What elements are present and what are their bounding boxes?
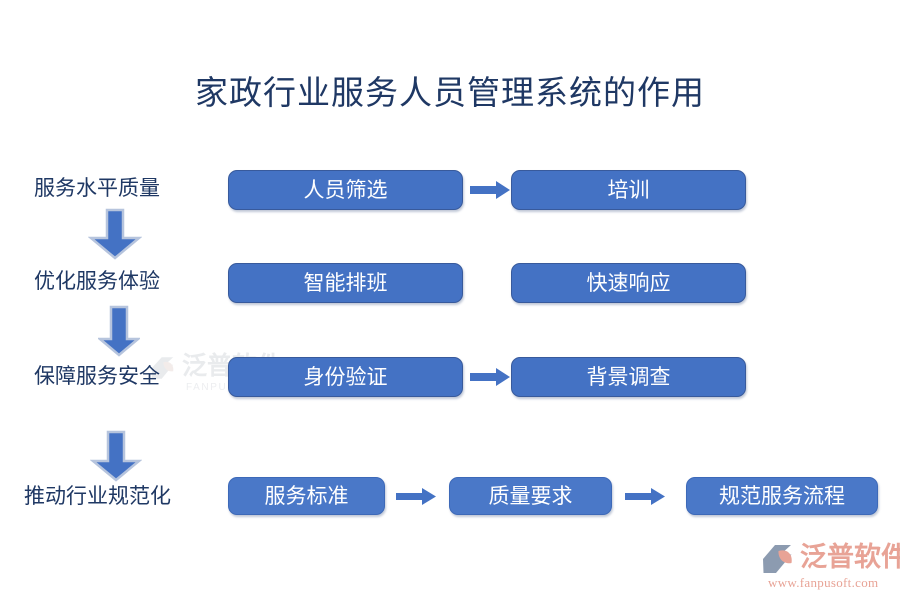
right-arrow-icon-row3 [470,367,510,387]
stage-label-service-quality: 服务水平质量 [34,174,160,202]
process-box-standardized-service-process[interactable]: 规范服务流程 [686,477,878,515]
process-box-identity-verification[interactable]: 身份验证 [228,357,463,397]
down-arrow-icon-1 [88,208,142,260]
down-arrow-icon-2 [98,305,140,357]
brand-url: www.fanpusoft.com [768,574,878,592]
brand-logo-icon [760,542,800,576]
process-box-background-check[interactable]: 背景调查 [511,357,746,397]
process-box-smart-scheduling[interactable]: 智能排班 [228,263,463,303]
process-box-service-standard[interactable]: 服务标准 [228,477,385,515]
page-title: 家政行业服务人员管理系统的作用 [0,72,900,116]
down-arrow-icon-3 [90,430,142,482]
stage-label-service-safety: 保障服务安全 [34,362,160,390]
process-box-quality-requirement[interactable]: 质量要求 [449,477,612,515]
stage-label-service-experience: 优化服务体验 [34,267,160,295]
right-arrow-icon-row4-b [625,487,665,506]
right-arrow-icon-row1 [470,180,510,200]
brand-logo: 泛普软件 www.fanpusoft.com [760,540,892,596]
process-box-fast-response[interactable]: 快速响应 [511,263,746,303]
process-box-staff-screening[interactable]: 人员筛选 [228,170,463,210]
right-arrow-icon-row4-a [396,487,436,506]
stage-label-industry-standardization: 推动行业规范化 [24,482,171,510]
brand-name: 泛普软件 [800,540,900,574]
slide-canvas: 家政行业服务人员管理系统的作用 泛普软件 FANPU SOFTWARE 服务水平… [0,0,900,600]
process-box-training[interactable]: 培训 [511,170,746,210]
